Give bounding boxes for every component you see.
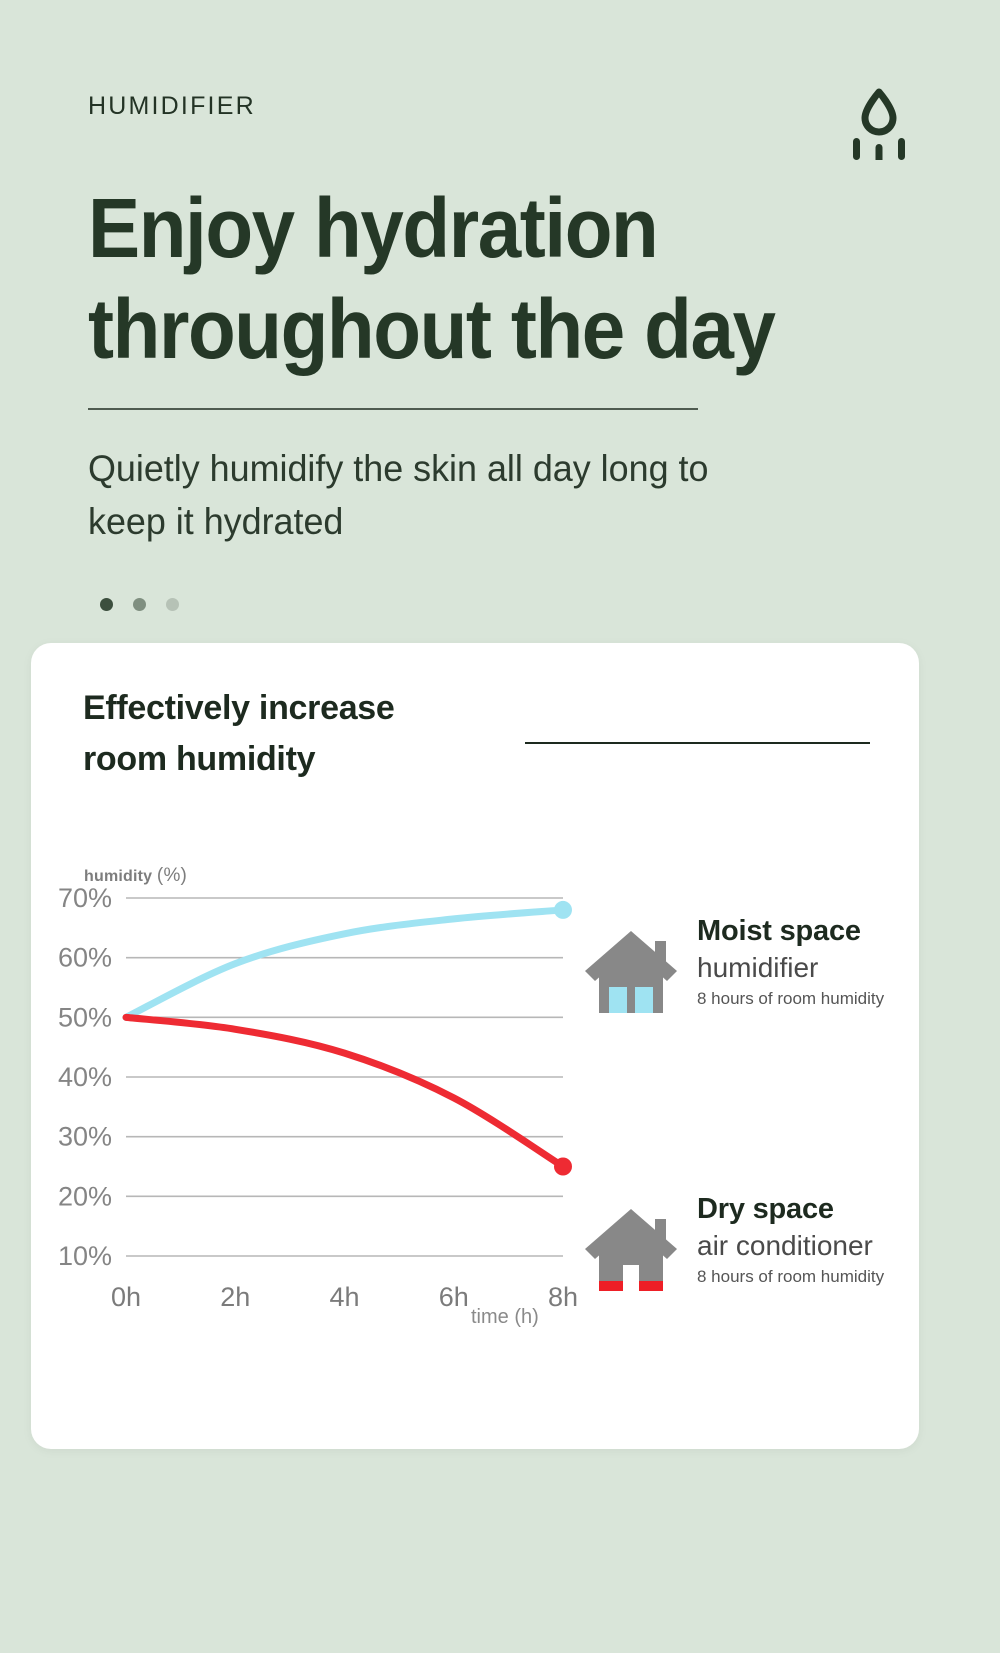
eyebrow-label: HUMIDIFIER bbox=[88, 92, 256, 121]
legend-title: Moist space bbox=[697, 913, 884, 949]
humidity-chart: humidity (%) 70%60%50%40%30%20%10% 0h2h4… bbox=[51, 858, 581, 1388]
legend-item-moist: Moist space humidifier 8 hours of room h… bbox=[571, 913, 911, 1021]
carousel-pagination[interactable] bbox=[100, 598, 179, 611]
headline-line-2: throughout the day bbox=[88, 279, 860, 380]
hero-section: HUMIDIFIER Enjoy hydration throughout th… bbox=[0, 0, 1000, 645]
legend-text-moist: Moist space humidifier 8 hours of room h… bbox=[697, 913, 884, 1011]
x-tick-label: 2h bbox=[220, 1282, 250, 1312]
legend-subtitle: humidifier bbox=[697, 949, 884, 987]
humidity-card: Effectively increase room humidity humid… bbox=[31, 643, 919, 1449]
chart-endpoint-marker bbox=[554, 1158, 572, 1176]
legend-item-dry: Dry space air conditioner 8 hours of roo… bbox=[571, 1191, 911, 1299]
page-title: Enjoy hydration throughout the day bbox=[88, 178, 860, 380]
y-tick-label: 60% bbox=[58, 943, 112, 973]
y-tick-label: 30% bbox=[58, 1122, 112, 1152]
x-tick-label: 4h bbox=[329, 1282, 359, 1312]
card-title-line-2: room humidity bbox=[83, 740, 315, 778]
card-divider bbox=[525, 742, 870, 744]
hero-divider bbox=[88, 408, 698, 410]
house-icon bbox=[581, 927, 681, 1013]
house-icon bbox=[581, 1205, 681, 1291]
x-axis-label: time (h) bbox=[471, 1306, 539, 1329]
chart-series bbox=[126, 901, 572, 1176]
legend-subtitle: air conditioner bbox=[697, 1227, 884, 1265]
pagination-dot-2[interactable] bbox=[133, 598, 146, 611]
legend-note: 8 hours of room humidity bbox=[697, 1265, 884, 1289]
card-title-line-1: Effectively increase bbox=[83, 689, 395, 727]
legend-text-dry: Dry space air conditioner 8 hours of roo… bbox=[697, 1191, 884, 1289]
water-drop-icon bbox=[846, 88, 912, 160]
chart-endpoint-marker bbox=[554, 901, 572, 919]
legend-title: Dry space bbox=[697, 1191, 884, 1227]
chart-y-tick-labels: 70%60%50%40%30%20%10% bbox=[58, 883, 112, 1271]
legend-note: 8 hours of room humidity bbox=[697, 987, 884, 1011]
chart-gridlines bbox=[126, 898, 563, 1256]
pagination-dot-1[interactable] bbox=[100, 598, 113, 611]
hero-subtitle: Quietly humidify the skin all day long t… bbox=[88, 442, 786, 548]
x-tick-label: 6h bbox=[439, 1282, 469, 1312]
y-tick-label: 40% bbox=[58, 1062, 112, 1092]
card-title: Effectively increase room humidity bbox=[83, 683, 503, 785]
subtitle-line-1: Quietly humidify the skin all day bbox=[88, 448, 591, 489]
y-tick-label: 70% bbox=[58, 883, 112, 913]
y-tick-label: 10% bbox=[58, 1241, 112, 1271]
chart-line-moist-space bbox=[126, 910, 563, 1017]
pagination-dot-3[interactable] bbox=[166, 598, 179, 611]
y-tick-label: 50% bbox=[58, 1002, 112, 1032]
chart-line-dry-space bbox=[126, 1017, 563, 1166]
y-tick-label: 20% bbox=[58, 1181, 112, 1211]
headline-line-1: Enjoy hydration bbox=[88, 181, 657, 275]
x-tick-label: 0h bbox=[111, 1282, 141, 1312]
chart-legend: Moist space humidifier 8 hours of room h… bbox=[571, 913, 911, 1469]
